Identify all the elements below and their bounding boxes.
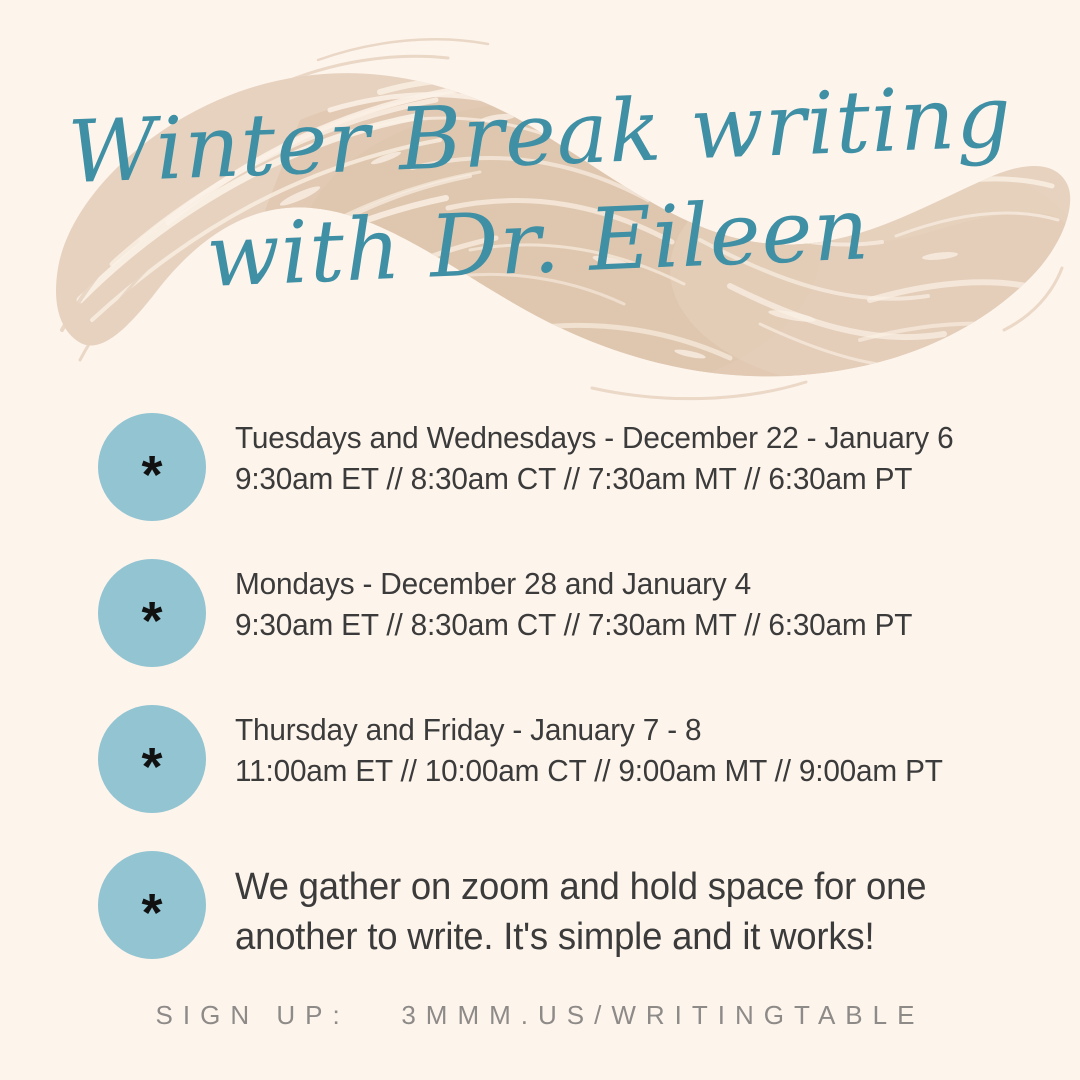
list-item-line-1: Tuesdays and Wednesdays - December 22 - … — [235, 417, 953, 458]
asterisk-bullet-icon: * — [98, 413, 206, 521]
title-line-1: Winter Break writing — [0, 71, 1080, 198]
list-item-text: We gather on zoom and hold space for one… — [235, 842, 955, 962]
list-item-line-1: Thursday and Friday - January 7 - 8 — [235, 709, 943, 750]
list-item: * Thursday and Friday - January 7 - 8 11… — [0, 696, 1080, 842]
signup-footer: SIGN UP: 3MMM.US/WRITINGTABLE — [0, 1000, 1080, 1031]
asterisk-glyph: * — [141, 740, 162, 794]
list-item-line-1: We gather on zoom and hold space for one — [235, 862, 926, 912]
list-item-text: Tuesdays and Wednesdays - December 22 - … — [235, 404, 983, 499]
list-item-line-2: another to write. It's simple and it wor… — [235, 912, 926, 962]
signup-url-text[interactable]: SIGN UP: 3MMM.US/WRITINGTABLE — [156, 1000, 925, 1030]
list-item: * Tuesdays and Wednesdays - December 22 … — [0, 404, 1080, 550]
list-item: * We gather on zoom and hold space for o… — [0, 842, 1080, 982]
asterisk-bullet-icon: * — [98, 851, 206, 959]
poster-title: Winter Break writing with Dr. Eileen — [0, 92, 1080, 286]
list-item-text: Mondays - December 28 and January 4 9:30… — [235, 550, 940, 645]
list-item-line-1: Mondays - December 28 and January 4 — [235, 563, 912, 604]
list-item-line-2: 11:00am ET // 10:00am CT // 9:00am MT //… — [235, 750, 943, 791]
poster-canvas: Winter Break writing with Dr. Eileen * T… — [0, 0, 1080, 1080]
asterisk-bullet-icon: * — [98, 705, 206, 813]
asterisk-bullet-icon: * — [98, 559, 206, 667]
list-item-text: Thursday and Friday - January 7 - 8 11:0… — [235, 696, 972, 791]
list-item-line-2: 9:30am ET // 8:30am CT // 7:30am MT // 6… — [235, 458, 953, 499]
asterisk-glyph: * — [141, 448, 162, 502]
asterisk-glyph: * — [141, 886, 162, 940]
list-item-line-2: 9:30am ET // 8:30am CT // 7:30am MT // 6… — [235, 604, 912, 645]
list-item: * Mondays - December 28 and January 4 9:… — [0, 550, 1080, 696]
schedule-list: * Tuesdays and Wednesdays - December 22 … — [0, 404, 1080, 982]
asterisk-glyph: * — [141, 594, 162, 648]
